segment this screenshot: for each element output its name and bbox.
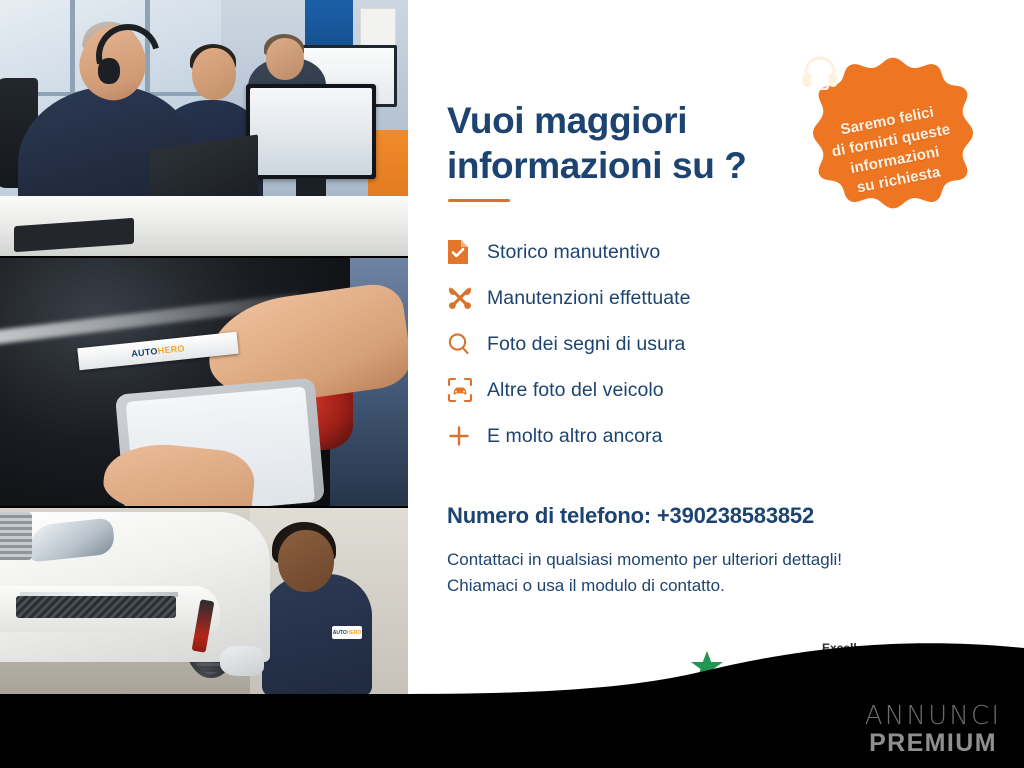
badge-text: Saremo felici di fornirti queste informa…: [826, 100, 959, 202]
bumper-vent: [16, 596, 176, 618]
document-check-icon: [447, 236, 487, 268]
foreground-monitor: [246, 84, 376, 179]
uniform-brand-hero: HERO: [347, 630, 361, 636]
plus-icon: [447, 420, 487, 452]
car-scan-icon: [447, 374, 487, 406]
feature-label: Manutenzioni effettuate: [487, 287, 691, 310]
monitor-stand: [296, 178, 326, 198]
feature-list: Storico manutentivo Manutenzi: [447, 229, 867, 459]
title-divider: [448, 199, 510, 202]
uniform-brand-auto: AUTO: [333, 630, 347, 636]
trustpilot-label: Excell: [822, 641, 857, 655]
headline-line-2: informazioni su ?: [447, 145, 746, 186]
car-grille: [0, 512, 32, 560]
headset-earcup: [98, 58, 120, 84]
ruler-brand-auto: AUTO: [131, 346, 158, 359]
agent-three-head: [266, 38, 304, 80]
phone-number-line[interactable]: Numero di telefono: +390238583852: [447, 503, 814, 529]
agent-two-head: [192, 48, 236, 100]
advert-canvas: AUTOHERO AUTOHERO: [0, 0, 1024, 768]
feature-item-altre-foto: Altre foto del veicolo: [447, 367, 867, 413]
feature-label: Altre foto del veicolo: [487, 379, 664, 402]
contact-note: Contattaci in qualsiasi momento per ulte…: [447, 547, 987, 600]
feature-item-foto-usura: Foto dei segni di usura: [447, 321, 867, 367]
watermark-bottom: PREMIUM: [858, 731, 1008, 756]
workshop-mechanic-photo: AUTOHERO: [0, 508, 408, 694]
magnifier-icon: [447, 328, 487, 360]
badge-content: Saremo felici di fornirti queste informa…: [800, 54, 986, 240]
work-glove: [220, 646, 264, 676]
feature-label: Foto dei segni di usura: [487, 333, 685, 356]
mechanic-head: [278, 530, 334, 592]
ruler-brand-hero: HERO: [157, 343, 185, 356]
contact-note-line-1: Contattaci in qualsiasi momento per ulte…: [447, 550, 842, 569]
annunci-premium-watermark: ANNUNCI PREMIUM: [858, 703, 1008, 756]
feature-label: Storico manutentivo: [487, 241, 660, 264]
page-title: Vuoi maggiori informazioni su ?: [447, 98, 807, 188]
support-badge: Saremo felici di fornirti queste informa…: [800, 54, 986, 240]
contact-note-line-2: Chiamaci o usa il modulo di contatto.: [447, 576, 725, 595]
feature-item-altro: E molto altro ancora: [447, 413, 867, 459]
phone-label: Numero di telefono:: [447, 503, 651, 528]
car-inspection-photo: AUTOHERO: [0, 258, 408, 506]
trustpilot-rating: Excell: [690, 642, 940, 688]
headline-line-1: Vuoi maggiori: [447, 100, 687, 141]
call-center-agents-photo: [0, 0, 408, 256]
phone-number[interactable]: +390238583852: [657, 503, 814, 528]
feature-label: E molto altro ancora: [487, 425, 663, 448]
photo-column: AUTOHERO AUTOHERO: [0, 0, 408, 768]
star-icon: [690, 650, 724, 688]
uniform-logo-patch: AUTOHERO: [332, 626, 362, 639]
tools-icon: [447, 282, 487, 314]
bottom-black-band: [0, 694, 408, 768]
watermark-top: ANNUNCI: [858, 703, 1008, 729]
feature-item-manutenzioni: Manutenzioni effettuate: [447, 275, 867, 321]
